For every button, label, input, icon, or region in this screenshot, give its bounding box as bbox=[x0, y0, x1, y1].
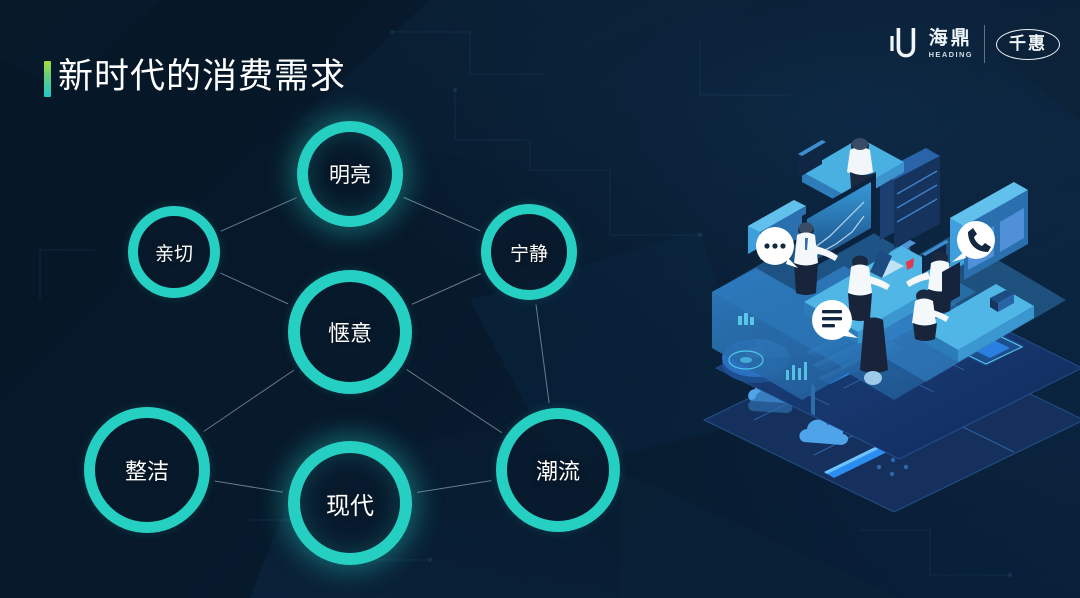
concept-mindmap: 明亮亲切宁静惬意整洁现代潮流 bbox=[0, 100, 700, 598]
mindmap-edge-xiandai-chaoliu bbox=[417, 481, 491, 493]
slide-header: 新时代的消费需求 海鼎 HEADING 千惠 bbox=[0, 0, 1080, 110]
heading-j-mark-icon bbox=[888, 26, 918, 62]
mindmap-node-qinqie[interactable]: 亲切 bbox=[128, 206, 220, 298]
page-title: 新时代的消费需求 bbox=[58, 54, 346, 100]
mindmap-edge-mingliang-ningjing bbox=[404, 197, 481, 230]
mindmap-node-label: 整洁 bbox=[125, 454, 169, 486]
partner-logo-badge: 千惠 bbox=[996, 29, 1060, 60]
mindmap-edge-qinqie-mingliang bbox=[221, 198, 297, 232]
mindmap-edge-ningjing-chaoliu bbox=[536, 305, 549, 404]
mindmap-node-chaoliu[interactable]: 潮流 bbox=[496, 408, 620, 532]
partner-logo-text: 千惠 bbox=[1009, 35, 1047, 54]
mindmap-node-label: 现代 bbox=[326, 486, 374, 521]
mindmap-edge-qinqie-qieyi bbox=[220, 273, 288, 304]
brand-logo-group: 海鼎 HEADING 千惠 bbox=[888, 20, 1060, 68]
title-accent-bar bbox=[44, 61, 51, 97]
heading-chinese-name: 海鼎 bbox=[929, 28, 973, 49]
slide-canvas: 新时代的消费需求 海鼎 HEADING 千惠 明亮亲切宁静惬意整洁现代潮流 bbox=[0, 0, 1080, 598]
mindmap-node-zhengjie[interactable]: 整洁 bbox=[84, 407, 210, 533]
mindmap-node-mingliang[interactable]: 明亮 bbox=[297, 121, 403, 227]
mindmap-node-label: 惬意 bbox=[328, 316, 372, 348]
isometric-office-illustration bbox=[694, 120, 1080, 540]
mindmap-edge-qieyi-ningjing bbox=[412, 274, 481, 305]
heading-english-name: HEADING bbox=[929, 49, 973, 60]
mindmap-node-qieyi[interactable]: 惬意 bbox=[288, 270, 412, 394]
mindmap-edge-qieyi-chaoliu bbox=[407, 370, 502, 433]
mindmap-node-ningjing[interactable]: 宁静 bbox=[481, 204, 577, 300]
mindmap-node-label: 亲切 bbox=[155, 239, 193, 266]
mindmap-node-label: 明亮 bbox=[329, 159, 371, 189]
mindmap-edge-qieyi-zhengjie bbox=[204, 370, 294, 431]
mindmap-node-label: 宁静 bbox=[510, 239, 548, 266]
mindmap-node-label: 潮流 bbox=[536, 454, 580, 486]
heading-wordmark: 海鼎 HEADING bbox=[929, 28, 973, 60]
mindmap-edge-zhengjie-xiandai bbox=[215, 481, 283, 492]
mindmap-node-xiandai[interactable]: 现代 bbox=[288, 441, 412, 565]
logo-divider bbox=[984, 25, 985, 63]
